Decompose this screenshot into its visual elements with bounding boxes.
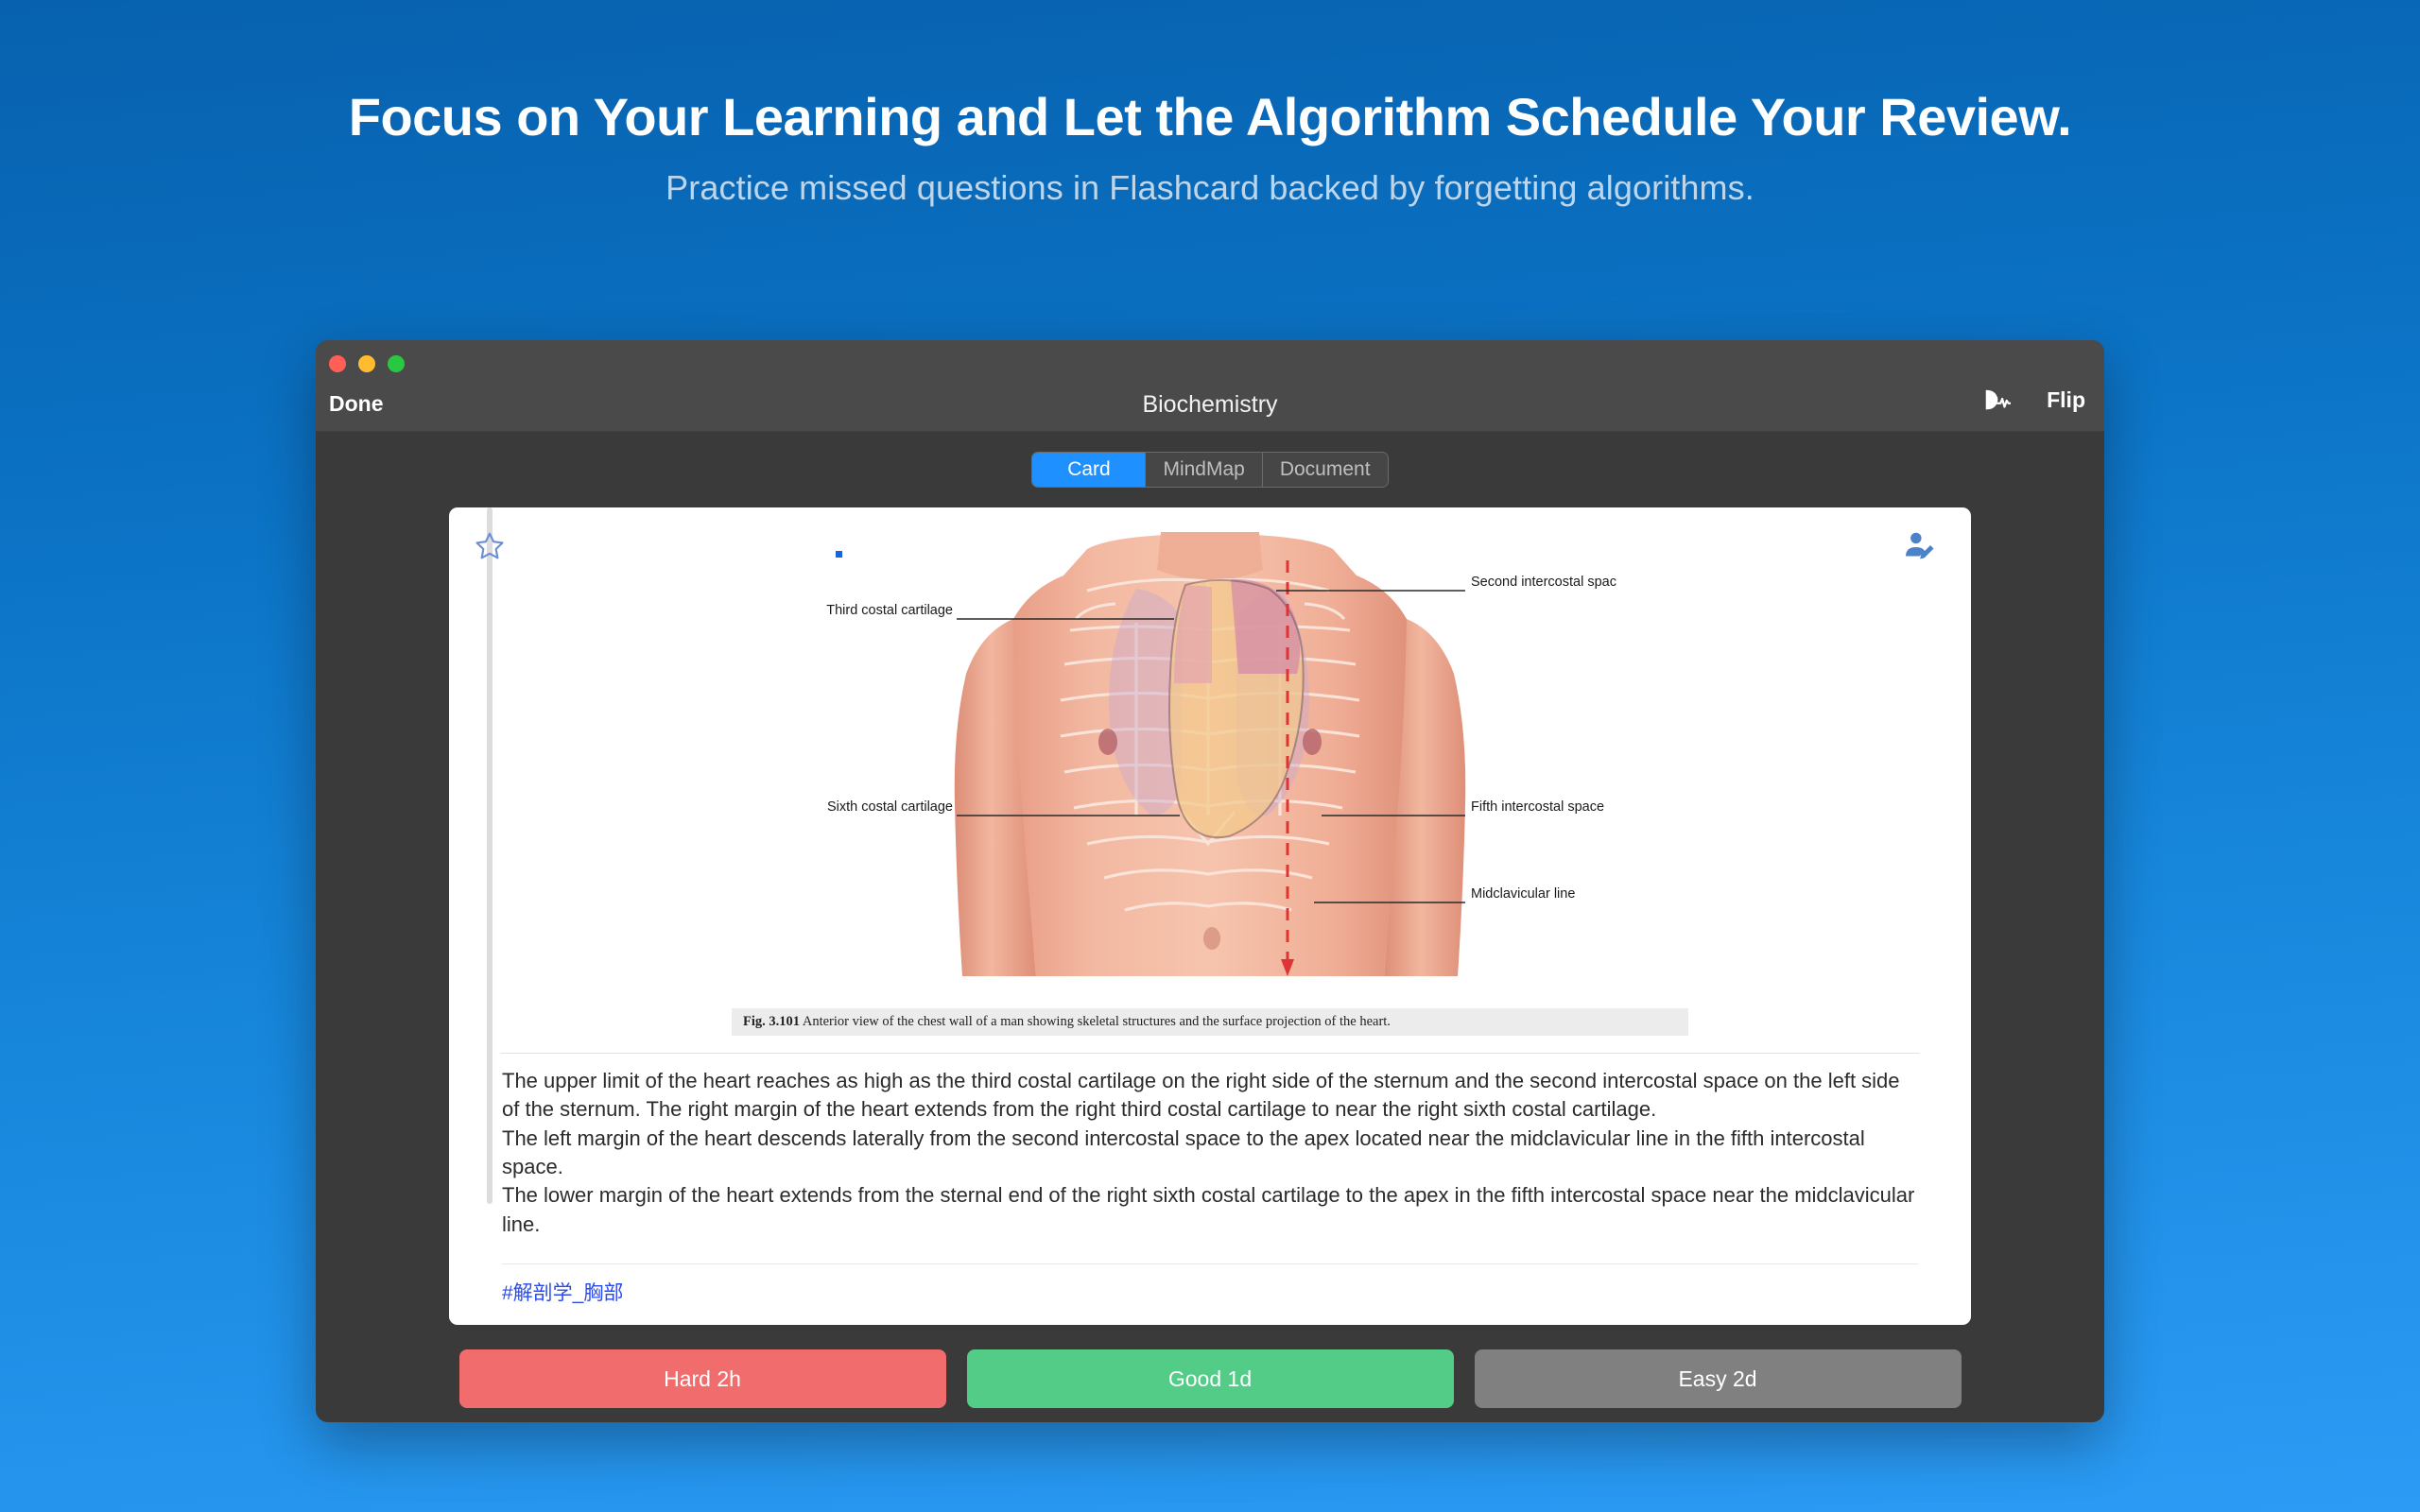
window-title: Biochemistry: [316, 391, 2104, 419]
figure-caption-text: Anterior view of the chest wall of a man…: [803, 1014, 1391, 1029]
page-title: Focus on Your Learning and Let the Algor…: [0, 87, 2420, 147]
card-scroll-body[interactable]: Third costal cartilage Sixth costal cart…: [449, 507, 1971, 1325]
card-body-text: The upper limit of the heart reaches as …: [449, 1054, 1971, 1239]
anatomy-illustration: Third costal cartilage Sixth costal cart…: [804, 532, 1616, 1005]
tab-document[interactable]: Document: [1263, 453, 1388, 487]
answer-good-button[interactable]: Good 1d: [967, 1349, 1454, 1408]
figure-caption: Fig. 3.101 Anterior view of the chest wa…: [732, 1008, 1688, 1036]
paragraph: The lower margin of the heart extends fr…: [502, 1181, 1918, 1239]
figure-label-second-intercostal-space: Second intercostal space: [1471, 575, 1616, 590]
titlebar-actions: Flip: [1982, 386, 2085, 414]
card-tag[interactable]: #解剖学_胸部: [449, 1264, 1971, 1325]
minimize-window-button[interactable]: [358, 355, 375, 372]
flip-button[interactable]: Flip: [2047, 387, 2085, 413]
close-window-button[interactable]: [329, 355, 346, 372]
figure-caption-number: Fig. 3.101: [743, 1014, 800, 1029]
figure-label-midclavicular-line: Midclavicular line: [1471, 886, 1575, 902]
figure-label-third-costal-cartilage: Third costal cartilage: [826, 603, 953, 618]
view-mode-switcher: Card MindMap Document: [316, 432, 2104, 488]
flashcard: Third costal cartilage Sixth costal cart…: [449, 507, 1971, 1325]
answer-hard-button[interactable]: Hard 2h: [459, 1349, 946, 1408]
app-window: Done Biochemistry Flip Card MindMap Docu…: [316, 340, 2104, 1422]
segmented-control: Card MindMap Document: [1031, 452, 1388, 488]
text-to-speech-icon[interactable]: [1982, 386, 2011, 414]
flashcard-area: Third costal cartilage Sixth costal cart…: [316, 488, 2104, 1325]
blue-marker: [836, 551, 842, 558]
traffic-lights: [329, 355, 405, 372]
tab-card[interactable]: Card: [1032, 453, 1146, 487]
figure-label-sixth-costal-cartilage: Sixth costal cartilage: [827, 799, 953, 815]
promo-header: Focus on Your Learning and Let the Algor…: [0, 0, 2420, 208]
page-subtitle: Practice missed questions in Flashcard b…: [0, 168, 2420, 208]
anatomy-figure: Third costal cartilage Sixth costal cart…: [804, 532, 1616, 1005]
paragraph: The upper limit of the heart reaches as …: [502, 1067, 1918, 1125]
paragraph: The left margin of the heart descends la…: [502, 1125, 1918, 1182]
window-titlebar: Done Biochemistry Flip: [316, 340, 2104, 432]
figure-label-fifth-intercostal-space: Fifth intercostal space: [1471, 799, 1604, 815]
tab-mindmap[interactable]: MindMap: [1146, 453, 1262, 487]
review-answer-bar: Hard 2h Good 1d Easy 2d: [316, 1325, 2104, 1422]
zoom-window-button[interactable]: [388, 355, 405, 372]
answer-easy-button[interactable]: Easy 2d: [1475, 1349, 1962, 1408]
